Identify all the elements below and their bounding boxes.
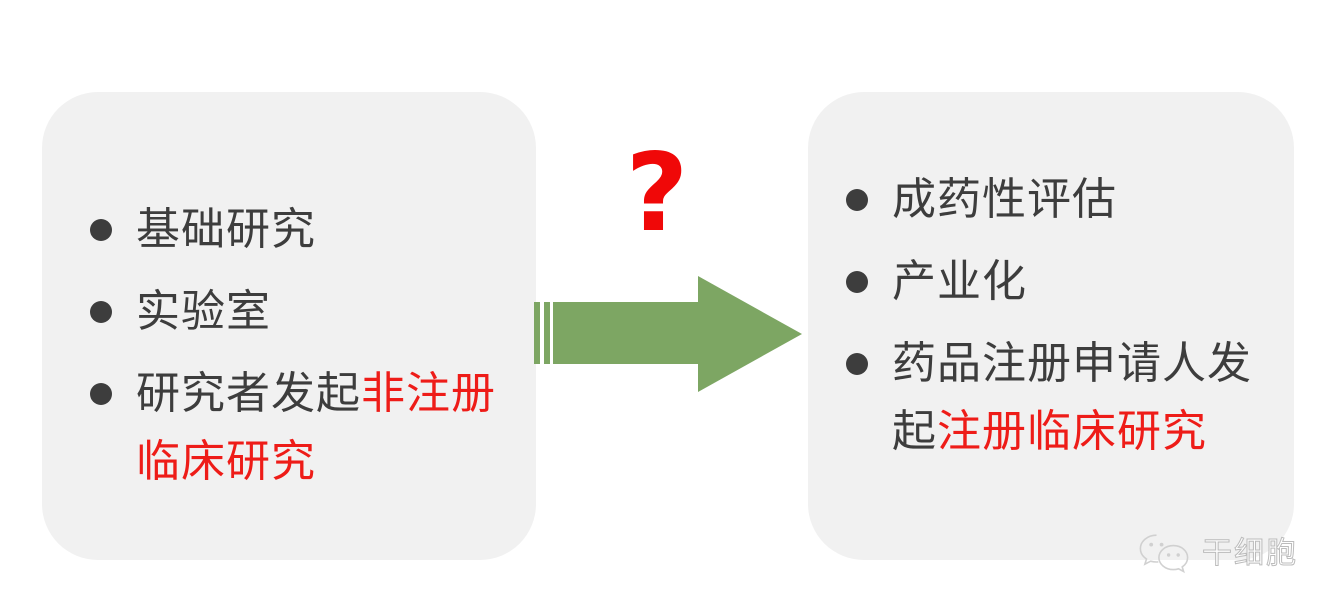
diagram-canvas: 基础研究 实验室 研究者发起非注册临床研究 ? 成药性评估 产业化 药品注册 [0, 0, 1340, 610]
list-item-text: 基础研究 [136, 204, 316, 255]
bullet-dot-icon [90, 301, 112, 323]
list-item: 基础研究 [88, 196, 518, 264]
watermark-label: 干细胞 [1202, 537, 1298, 571]
arrow-shaft [553, 302, 701, 364]
arrow-tail-stripe [544, 302, 550, 364]
right-arrow-icon [532, 276, 804, 392]
bullet-dot-icon [846, 189, 868, 211]
arrow-head [698, 276, 802, 392]
arrow-tail-stripe [534, 302, 540, 364]
bullet-dot-icon [846, 353, 868, 375]
list-item-text: 产业化 [892, 256, 1027, 307]
list-item: 药品注册申请人发起注册临床研究 [844, 330, 1274, 466]
list-item: 研究者发起非注册临床研究 [88, 360, 518, 496]
bullet-dot-icon [90, 219, 112, 241]
bullet-dot-icon [846, 271, 868, 293]
left-panel-bullet-list: 基础研究 实验室 研究者发起非注册临床研究 [88, 196, 518, 496]
list-item-text: 实验室 [136, 286, 271, 337]
watermark: 干细胞 [1138, 532, 1298, 576]
list-item-text: 研究者发起 [136, 368, 361, 419]
bullet-dot-icon [90, 383, 112, 405]
list-item-highlight-text: 注册临床研究 [937, 406, 1207, 457]
list-item-text: 成药性评估 [892, 174, 1117, 225]
list-item: 产业化 [844, 248, 1274, 316]
question-mark: ? [612, 140, 702, 248]
wechat-icon [1138, 532, 1192, 576]
list-item: 成药性评估 [844, 166, 1274, 234]
right-panel-bullet-list: 成药性评估 产业化 药品注册申请人发起注册临床研究 [844, 166, 1274, 466]
list-item: 实验室 [88, 278, 518, 346]
